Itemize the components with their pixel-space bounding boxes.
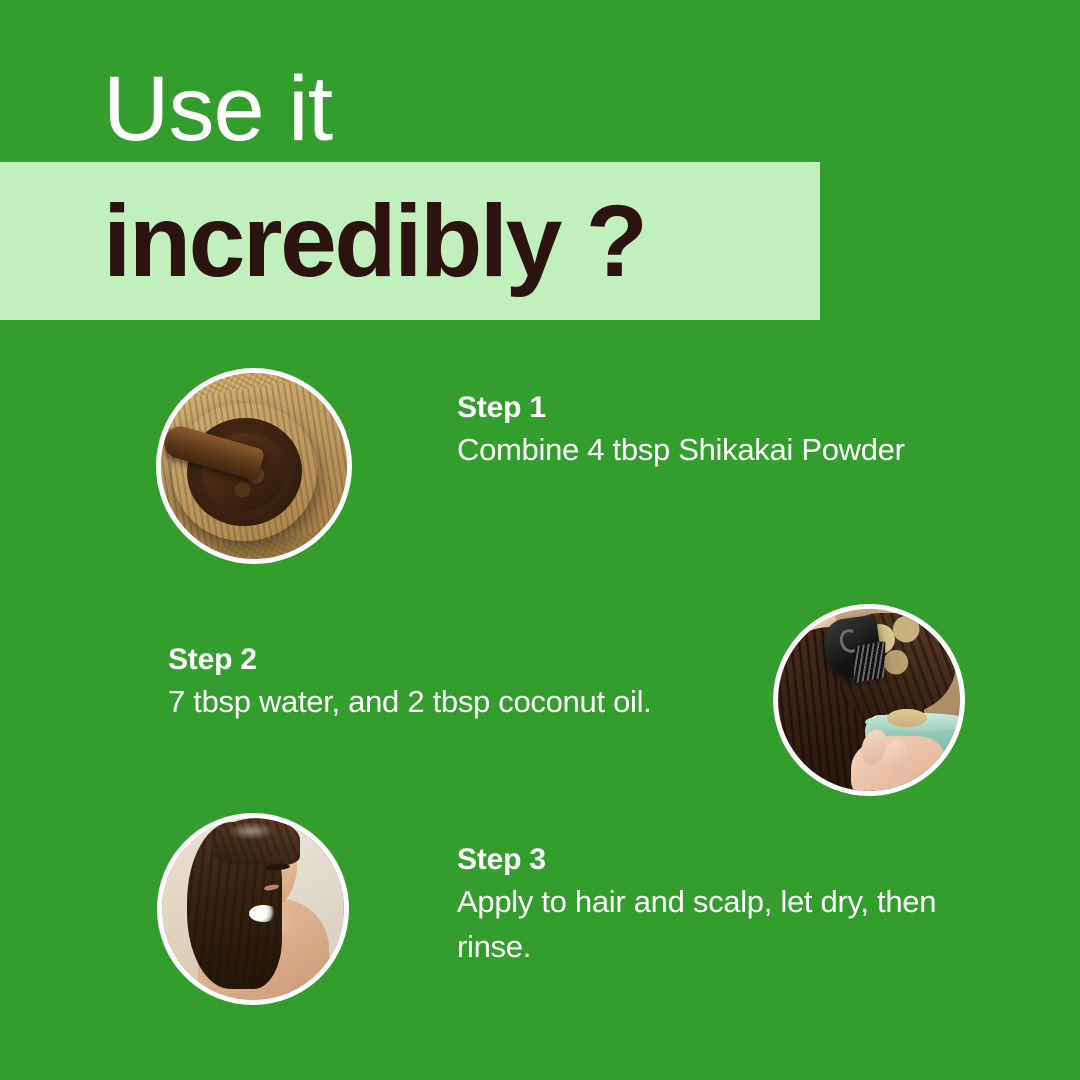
step-2-description: 7 tbsp water, and 2 tbsp coconut oil.: [168, 680, 768, 725]
step-3-text-block: Step 3 Apply to hair and scalp, let dry,…: [457, 840, 937, 969]
headline-line-2: incredibly ?: [103, 174, 645, 309]
step-1-photo: [156, 368, 352, 564]
step-1-description: Combine 4 tbsp Shikakai Powder: [457, 428, 927, 473]
step-3-description: Apply to hair and scalp, let dry, then r…: [457, 880, 937, 970]
step-2-title: Step 2: [168, 640, 768, 680]
step-1-text-block: Step 1 Combine 4 tbsp Shikakai Powder: [457, 388, 927, 473]
step-3-title: Step 3: [457, 840, 937, 880]
wet-hair-shine-shape: [228, 822, 275, 840]
headline-line-1: Use it: [103, 63, 332, 155]
step-1-photo-inner: [161, 373, 347, 559]
promo-poster: Use it incredibly ? Step 1 Combine 4 tbs…: [0, 0, 1080, 1080]
step-1-title: Step 1: [457, 388, 927, 428]
shoulder-foam-shape: [249, 905, 278, 921]
step-2-photo: [773, 604, 965, 796]
brush-comb-teeth-shape: [854, 640, 886, 683]
step-2-text-block: Step 2 7 tbsp water, and 2 tbsp coconut …: [168, 640, 768, 725]
step-3-photo-inner: [162, 818, 344, 1000]
step-3-photo: [157, 813, 349, 1005]
step-2-photo-inner: [778, 609, 960, 791]
